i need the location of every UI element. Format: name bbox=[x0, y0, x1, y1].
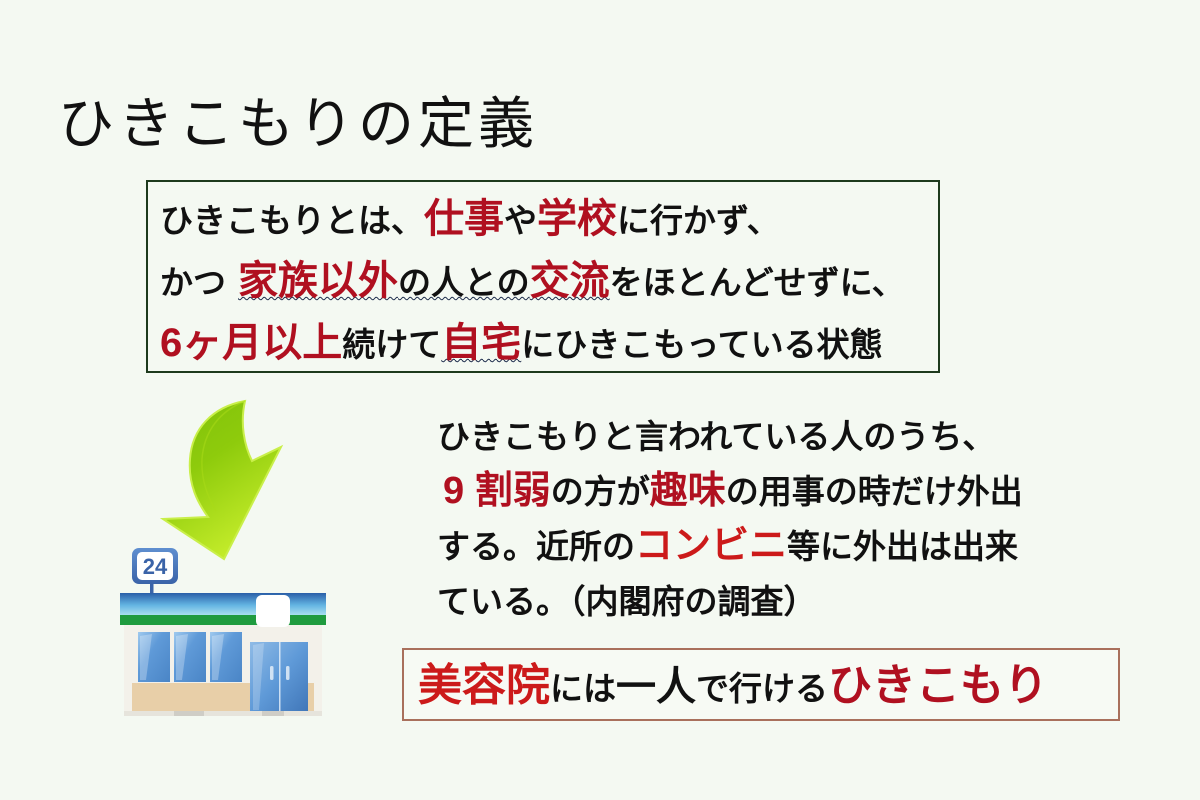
paragraph-keyword-hobby: 趣味 bbox=[650, 470, 726, 512]
definition-line-2-text-b: の人との bbox=[398, 264, 530, 301]
definition-keyword-school: 学校 bbox=[537, 197, 617, 241]
definition-keyword-interaction: 交流 bbox=[530, 259, 610, 303]
page-title: ひきこもりの定義 bbox=[58, 95, 538, 154]
definition-line-3-text-a: 続けて bbox=[342, 326, 441, 363]
paragraph-line-2-text-b: の用事の時だけ外出 bbox=[726, 473, 1023, 510]
definition-line-3: 6ヶ月以上続けて自宅にひきこもっている状態 bbox=[160, 313, 932, 375]
definition-box-content: ひきこもりとは、仕事や学校に行かず、 かつ家族以外の人との交流をほとんどせずに、… bbox=[160, 189, 932, 375]
definition-keyword-outside-family: 家族以外 bbox=[238, 259, 398, 303]
paragraph-line-3-text-a: する。近所の bbox=[437, 528, 635, 565]
punchline-text-a: には bbox=[550, 670, 616, 707]
definition-line-1-text-c: に行かず、 bbox=[617, 202, 780, 239]
punchline-keyword-hikikomori: ひきこもり bbox=[828, 661, 1048, 710]
paragraph-line-1: ひきこもりと言われている人のうち、 bbox=[437, 409, 1117, 464]
definition-line-1-text-a: ひきこもりとは、 bbox=[160, 202, 424, 239]
paragraph-keyword-convenience-store: コンビニ bbox=[635, 525, 787, 567]
paragraph-line-2-text-a: の方が bbox=[551, 473, 650, 510]
paragraph-keyword-nearly-90-percent: 9 割弱 bbox=[443, 470, 551, 512]
definition-line-2: かつ家族以外の人との交流をほとんどせずに、 bbox=[160, 251, 932, 313]
store-sign-label-24: 24 bbox=[143, 554, 168, 579]
green-curved-down-arrow-icon bbox=[150, 393, 320, 563]
definition-line-2-text-c: をほとんどせずに、 bbox=[610, 264, 905, 301]
paragraph-line-3-text-b: 等に外出は出来 bbox=[787, 528, 1018, 565]
slide-canvas: ひきこもりの定義 ひきこもりとは、仕事や学校に行かず、 かつ家族以外の人との交流… bbox=[0, 0, 1200, 800]
punchline-keyword-beauty-salon: 美容院 bbox=[418, 661, 550, 710]
definition-keyword-six-months: 6ヶ月以上 bbox=[160, 321, 342, 365]
punchline-text-b: で行ける bbox=[696, 670, 828, 707]
definition-line-1: ひきこもりとは、仕事や学校に行かず、 bbox=[160, 189, 932, 251]
definition-line-1-text-b: や bbox=[504, 202, 537, 239]
punchline-keyword-alone: 一人 bbox=[616, 665, 696, 709]
paragraph-line-3: する。近所のコンビニ等に外出は出来 bbox=[437, 519, 1117, 574]
definition-keyword-work: 仕事 bbox=[424, 197, 504, 241]
punchline-text: 美容院には一人で行けるひきこもり bbox=[418, 655, 1048, 720]
definition-keyword-home: 自宅 bbox=[441, 321, 521, 365]
punchline-box: 美容院には一人で行けるひきこもり bbox=[402, 648, 1120, 721]
definition-box: ひきこもりとは、仕事や学校に行かず、 かつ家族以外の人との交流をほとんどせずに、… bbox=[146, 180, 940, 373]
paragraph-line-2: 9 割弱の方が趣味の用事の時だけ外出 bbox=[437, 464, 1117, 519]
survey-paragraph: ひきこもりと言われている人のうち、 9 割弱の方が趣味の用事の時だけ外出 する。… bbox=[437, 409, 1117, 629]
paragraph-line-4: ている。（内閣府の調査） bbox=[437, 574, 1117, 629]
convenience-store-icon: 24 bbox=[112, 548, 336, 723]
definition-line-2-text-a: かつ bbox=[160, 264, 226, 301]
definition-line-3-text-b: にひきこもっている状態 bbox=[521, 326, 882, 363]
